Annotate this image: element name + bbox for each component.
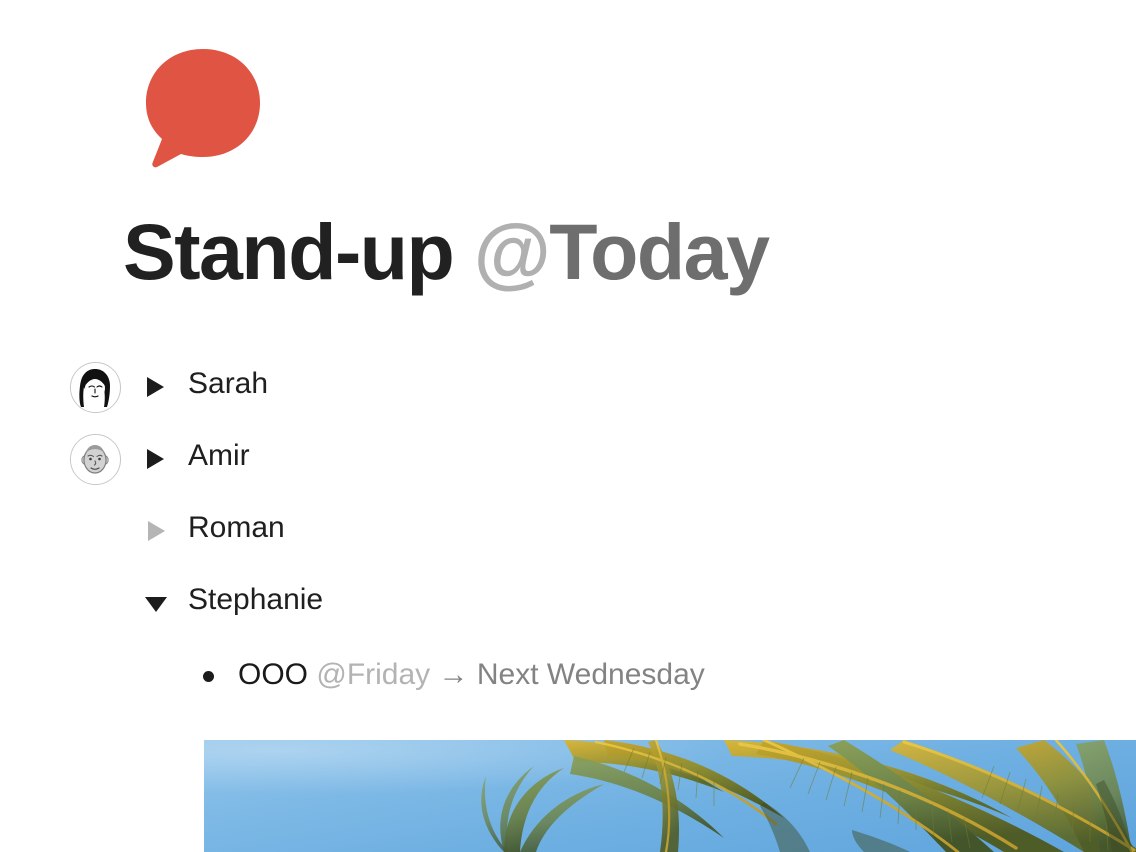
avatar [70, 362, 121, 413]
list-item[interactable]: Sarah [0, 357, 1136, 429]
list-item[interactable]: Roman [0, 501, 1136, 573]
page-title: Stand-up @Today [123, 212, 769, 291]
page-title-main: Stand-up [123, 207, 453, 296]
speech-bubble-icon[interactable] [143, 47, 263, 169]
photo-palm-fronds [204, 740, 1136, 852]
ooo-label: OOO [238, 658, 308, 691]
collapsed-triangle-icon[interactable] [147, 377, 164, 397]
page-title-at-symbol: @ [474, 207, 550, 296]
list-item-label: Sarah [188, 369, 268, 399]
collapsed-triangle-icon[interactable] [148, 521, 165, 541]
note-page: Stand-up @Today Sarah [0, 0, 1136, 852]
sub-list-item[interactable]: OOO @Friday → Next Wednesday [0, 655, 1136, 701]
sub-list-item-text: OOO @Friday → Next Wednesday [238, 660, 705, 690]
list-item-label: Stephanie [188, 585, 323, 615]
list-item[interactable]: Stephanie [0, 573, 1136, 645]
collapsed-triangle-icon[interactable] [147, 449, 164, 469]
expanded-triangle-icon[interactable] [145, 597, 167, 612]
ooo-end-date: → Next Wednesday [439, 658, 705, 691]
list-item-label: Roman [188, 513, 285, 543]
ooo-start-date: @Friday [316, 658, 430, 691]
avatar [70, 434, 121, 485]
avatar-amir-illustration [71, 435, 119, 483]
speech-bubble-glyph [143, 47, 263, 169]
list-item[interactable]: Amir [0, 429, 1136, 501]
palm-trees-photo[interactable] [204, 740, 1136, 852]
outline-list: Sarah Amir [0, 357, 1136, 645]
avatar-sarah-illustration [71, 363, 119, 411]
bullet-dot-icon [203, 671, 214, 682]
page-title-date: Today [549, 207, 768, 296]
list-item-label: Amir [188, 441, 250, 471]
